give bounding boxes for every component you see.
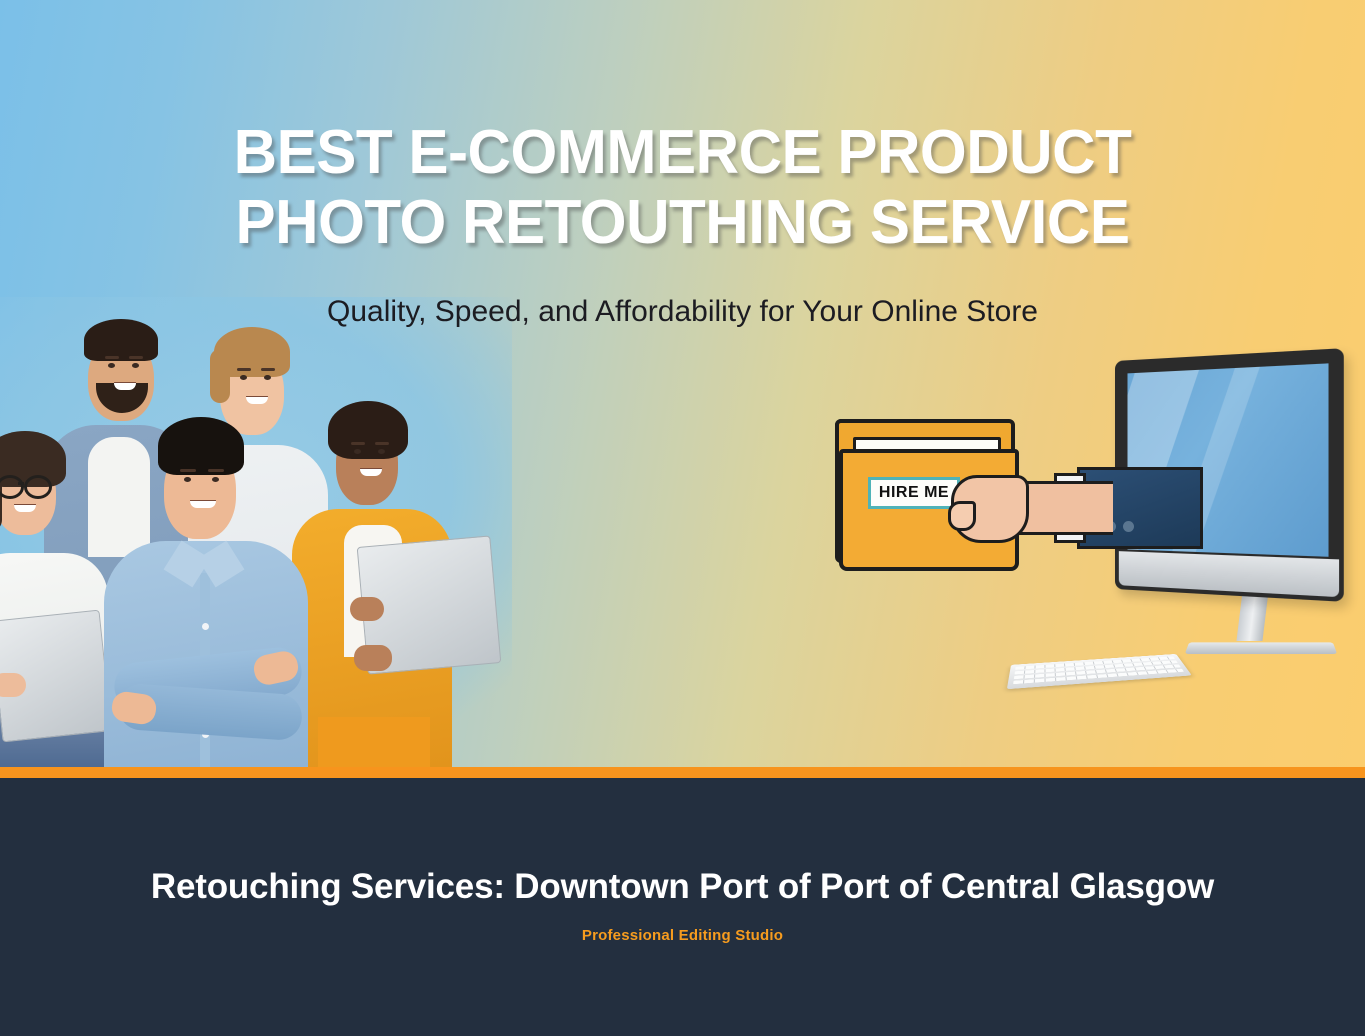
hero-subheadline: Quality, Speed, and Affordability for Yo…	[0, 295, 1365, 329]
monitor-chin	[1119, 551, 1339, 597]
hire-me-label: HIRE ME	[868, 477, 960, 509]
footer-bar: Retouching Services: Downtown Port of Po…	[0, 778, 1365, 1036]
headline-line-2: PHOTO RETOUTHING SERVICE	[20, 188, 1344, 258]
footer-title: Retouching Services: Downtown Port of Po…	[0, 867, 1365, 907]
keyboard-icon	[1007, 654, 1192, 689]
promo-banner: HIRE ME BEST E-COMMERCE PRODUCT PHOTO RE…	[0, 0, 1365, 1036]
orange-divider	[0, 767, 1365, 778]
hero-headline: BEST E-COMMERCE PRODUCT PHOTO RETOUTHING…	[20, 118, 1344, 258]
thumb	[948, 501, 976, 531]
folder-hand-monitor-illustration: HIRE ME	[815, 355, 1365, 755]
hero-section: HIRE ME BEST E-COMMERCE PRODUCT PHOTO RE…	[0, 0, 1365, 767]
monitor-base	[1185, 642, 1337, 654]
headline-line-1: BEST E-COMMERCE PRODUCT	[20, 118, 1344, 188]
eyeglasses-icon	[24, 475, 52, 499]
team-photo	[0, 297, 512, 767]
footer-subtitle: Professional Editing Studio	[0, 927, 1365, 944]
